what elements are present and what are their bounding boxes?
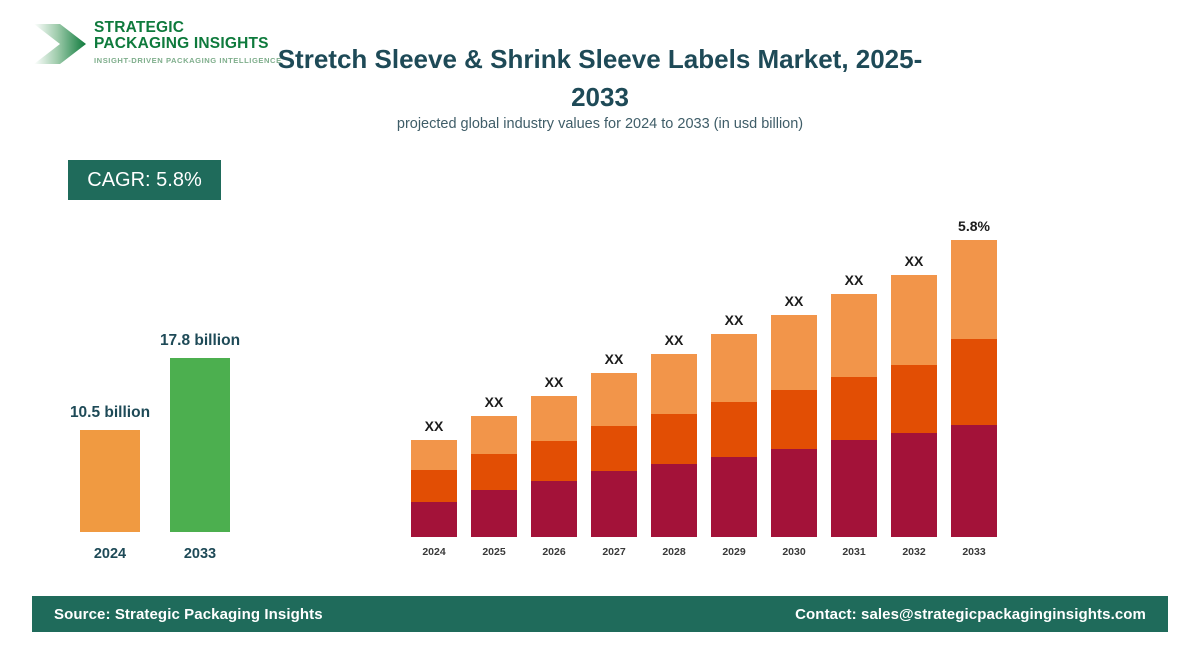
stacked-bar-segment <box>711 334 757 402</box>
footer-source-text: Source: Strategic Packaging Insights <box>54 606 323 623</box>
stacked-bar-segment <box>891 275 937 365</box>
stacked-bar-segment <box>411 440 457 470</box>
stacked-bar-group: XX2024 <box>411 223 457 560</box>
stacked-bar-segment <box>651 464 697 537</box>
stacked-bar-top-label: XX <box>869 253 959 269</box>
stacked-bar-group: XX2026 <box>531 223 577 560</box>
stacked-bar-segment <box>771 390 817 449</box>
stacked-bar-segment <box>891 365 937 433</box>
stacked-bar-segment <box>591 373 637 426</box>
brand-logo: STRATEGIC PACKAGING INSIGHTS INSIGHT-DRI… <box>32 14 282 76</box>
stacked-category-label: 2030 <box>764 546 824 558</box>
stacked-bar-top-label: XX <box>629 332 719 348</box>
stacked-bar-segment <box>531 481 577 537</box>
stacked-bar-top-label: XX <box>749 293 839 309</box>
market-size-comparison-chart: 10.5 billion202417.8 billion2033 <box>40 300 290 570</box>
comparison-bar <box>80 430 140 532</box>
stacked-bar-segment <box>951 339 997 425</box>
stacked-bar-top-label: XX <box>449 394 539 410</box>
comparison-bar <box>170 358 230 532</box>
stacked-category-label: 2033 <box>944 546 1004 558</box>
stacked-bar-segment <box>831 377 877 440</box>
comparison-category-label: 2033 <box>150 546 250 562</box>
stacked-bar-segment <box>951 240 997 339</box>
stacked-bar-group: 5.8%2033 <box>951 223 997 560</box>
stacked-bar-segment <box>411 502 457 537</box>
comparison-bar-value-label: 17.8 billion <box>120 332 280 350</box>
yearly-forecast-stacked-chart: XX2024XX2025XX2026XX2027XX2028XX2029XX20… <box>405 200 1005 560</box>
stacked-category-label: 2028 <box>644 546 704 558</box>
stacked-bar-segment <box>771 449 817 537</box>
stacked-bar-segment <box>471 454 517 490</box>
stacked-bar-segment <box>831 294 877 377</box>
stacked-bar-segment <box>531 396 577 441</box>
stacked-bar-top-label: XX <box>509 374 599 390</box>
stacked-bar <box>411 440 457 537</box>
stacked-category-label: 2031 <box>824 546 884 558</box>
stacked-bar <box>831 294 877 537</box>
stacked-category-label: 2024 <box>404 546 464 558</box>
cagr-badge-label: CAGR: 5.8% <box>87 169 201 192</box>
stacked-bar-group: XX2028 <box>651 223 697 560</box>
footer-bar: Source: Strategic Packaging Insights Con… <box>32 596 1168 632</box>
stacked-bar-top-label: 5.8% <box>929 218 1019 234</box>
stacked-bar <box>891 275 937 537</box>
stacked-bar-segment <box>711 402 757 457</box>
stacked-category-label: 2027 <box>584 546 644 558</box>
stacked-bar-group: XX2031 <box>831 223 877 560</box>
stacked-bar-segment <box>531 441 577 481</box>
stacked-bar-segment <box>591 471 637 537</box>
stacked-bar-segment <box>651 354 697 414</box>
stacked-bar-segment <box>951 425 997 537</box>
comparison-bar-group: 17.8 billion <box>170 358 230 532</box>
stacked-bar-segment <box>891 433 937 537</box>
comparison-bar-value-label: 10.5 billion <box>30 404 190 422</box>
stacked-bar-top-label: XX <box>689 312 779 328</box>
stacked-bar <box>711 334 757 537</box>
stacked-bar-top-label: XX <box>389 418 479 434</box>
stacked-bar-top-label: XX <box>809 272 899 288</box>
stacked-bar-segment <box>831 440 877 537</box>
stacked-bar <box>651 354 697 537</box>
stacked-bar <box>951 240 997 537</box>
stacked-bar-group: XX2029 <box>711 223 757 560</box>
stacked-bar-segment <box>591 426 637 471</box>
green-chevron-icon <box>32 20 88 68</box>
page-subtitle: projected global industry values for 202… <box>250 116 950 132</box>
stacked-category-label: 2032 <box>884 546 944 558</box>
stacked-bar-segment <box>711 457 757 537</box>
stacked-bar-segment <box>651 414 697 464</box>
stacked-category-label: 2025 <box>464 546 524 558</box>
stacked-category-label: 2029 <box>704 546 764 558</box>
footer-contact-text: Contact: sales@strategicpackaginginsight… <box>795 606 1146 623</box>
logo-line-1: STRATEGIC <box>94 20 282 36</box>
stacked-bar-group: XX2025 <box>471 223 517 560</box>
cagr-badge: CAGR: 5.8% <box>68 160 221 200</box>
comparison-category-label: 2024 <box>60 546 160 562</box>
stacked-bar-segment <box>471 490 517 537</box>
stacked-bar-segment <box>411 470 457 502</box>
stacked-bar <box>471 416 517 537</box>
stacked-bar <box>771 315 817 537</box>
stacked-bar-group: XX2027 <box>591 223 637 560</box>
page-title: Stretch Sleeve & Shrink Sleeve Labels Ma… <box>250 40 950 116</box>
stacked-bar-segment <box>771 315 817 390</box>
stacked-bar-top-label: XX <box>569 351 659 367</box>
comparison-bar-group: 10.5 billion <box>80 430 140 532</box>
stacked-bar <box>591 373 637 537</box>
stacked-bar-group: XX2032 <box>891 223 937 560</box>
stacked-bar <box>531 396 577 537</box>
stacked-bar-segment <box>471 416 517 454</box>
stacked-category-label: 2026 <box>524 546 584 558</box>
